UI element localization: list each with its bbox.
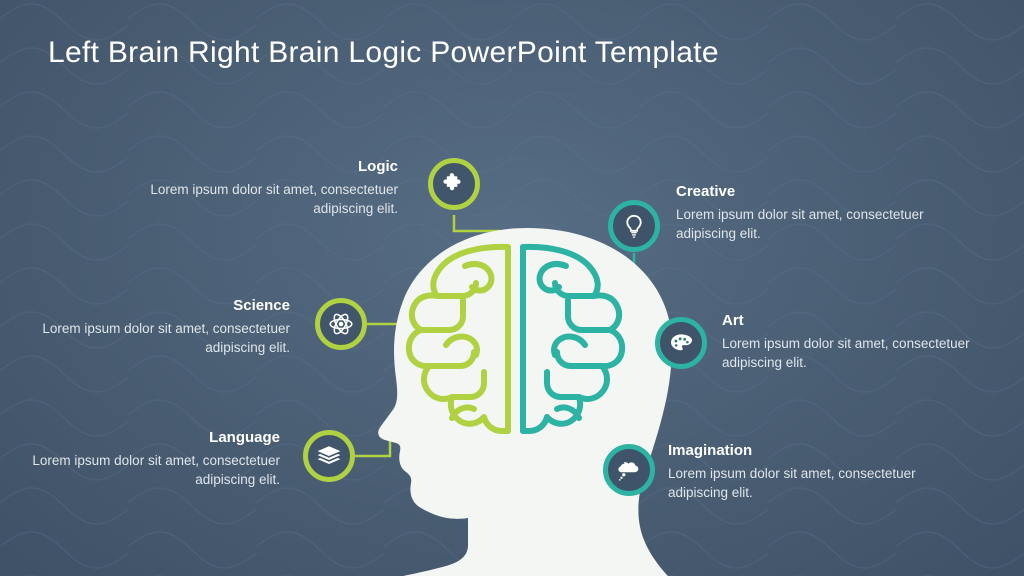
thought-cloud-icon — [616, 457, 642, 483]
item-title-imagination: Imagination — [668, 442, 968, 461]
item-desc-logic: Lorem ipsum dolor sit amet, consectetuer… — [98, 180, 398, 219]
item-title-science: Science — [0, 297, 290, 316]
item-text-science: Science Lorem ipsum dolor sit amet, cons… — [0, 297, 290, 358]
item-desc-art: Lorem ipsum dolor sit amet, consectetuer… — [722, 334, 1022, 373]
item-text-art: Art Lorem ipsum dolor sit amet, consecte… — [722, 312, 1022, 373]
item-text-creative: Creative Lorem ipsum dolor sit amet, con… — [676, 183, 976, 244]
atom-icon — [328, 311, 354, 337]
item-desc-creative: Lorem ipsum dolor sit amet, consectetuer… — [676, 205, 976, 244]
item-desc-language: Lorem ipsum dolor sit amet, consectetuer… — [0, 451, 280, 490]
icon-badge-art[interactable] — [655, 317, 707, 369]
item-title-creative: Creative — [676, 183, 976, 202]
item-text-imagination: Imagination Lorem ipsum dolor sit amet, … — [668, 442, 968, 503]
item-text-language: Language Lorem ipsum dolor sit amet, con… — [0, 429, 280, 490]
lightbulb-icon — [621, 213, 647, 239]
item-text-logic: Logic Lorem ipsum dolor sit amet, consec… — [98, 158, 398, 219]
item-title-logic: Logic — [98, 158, 398, 177]
icon-badge-science[interactable] — [315, 298, 367, 350]
item-title-art: Art — [722, 312, 1022, 331]
icon-badge-imagination[interactable] — [603, 444, 655, 496]
puzzle-piece-icon — [441, 171, 467, 197]
item-desc-science: Lorem ipsum dolor sit amet, consectetuer… — [0, 319, 290, 358]
icon-badge-language[interactable] — [303, 430, 355, 482]
stacked-books-icon — [316, 443, 342, 469]
icon-badge-logic[interactable] — [428, 158, 480, 210]
item-title-language: Language — [0, 429, 280, 448]
icon-badge-creative[interactable] — [608, 200, 660, 252]
palette-icon — [668, 330, 694, 356]
item-desc-imagination: Lorem ipsum dolor sit amet, consectetuer… — [668, 464, 968, 503]
slide-canvas: Left Brain Right Brain Logic PowerPoint … — [0, 0, 1024, 576]
